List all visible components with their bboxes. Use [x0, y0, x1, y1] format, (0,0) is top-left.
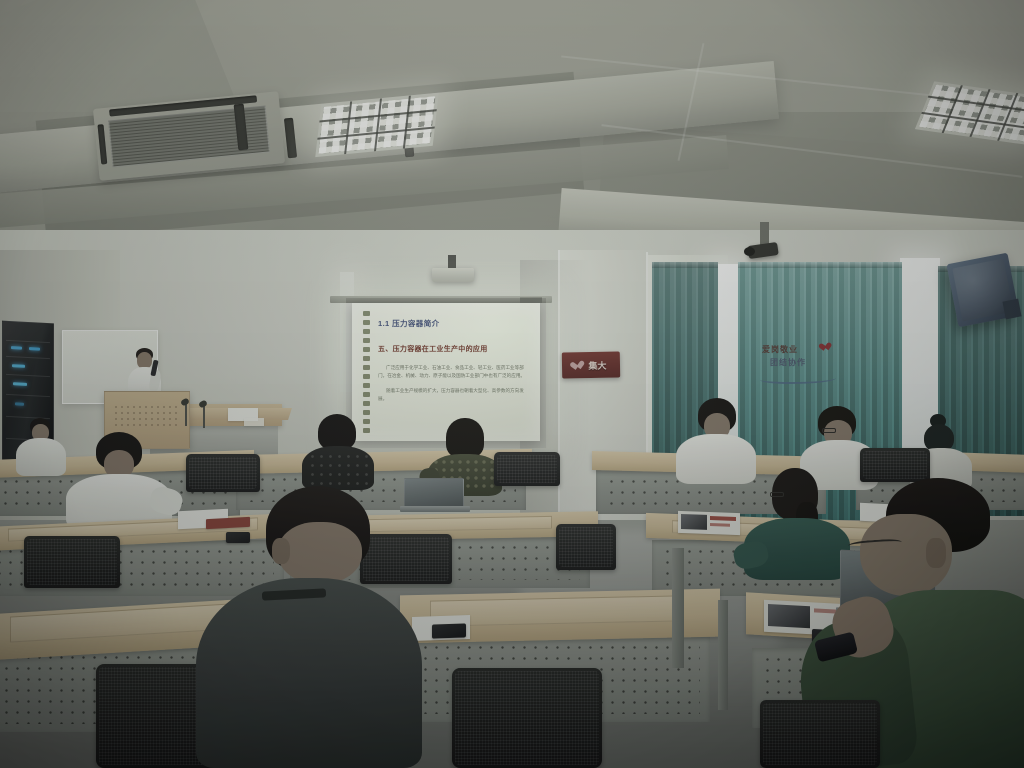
torso — [16, 438, 66, 476]
blouse-pattern — [308, 452, 368, 486]
ear — [272, 538, 290, 564]
slide-subheading: 五、压力容器在工业生产中的应用 — [378, 344, 532, 354]
audience-member — [66, 432, 174, 528]
desk-leg — [718, 600, 728, 710]
glasses-icon — [822, 428, 836, 433]
microphone-stand — [203, 406, 205, 428]
projector-icon — [432, 268, 474, 282]
wall-plaque-red: 集大 — [562, 351, 620, 378]
plaque-label: 集大 — [588, 358, 606, 371]
decal-line-2: 团结协作 — [770, 357, 834, 368]
chair — [24, 536, 120, 588]
microphone-stand — [185, 404, 187, 426]
speaker-bracket — [1002, 299, 1021, 320]
chair — [494, 452, 560, 486]
hair — [318, 414, 356, 450]
phone — [432, 623, 466, 638]
lectern-perforation — [113, 404, 181, 430]
chair — [760, 700, 880, 768]
camera-lens-icon — [744, 247, 755, 256]
audience-member-foreground — [196, 486, 426, 768]
wall-edge — [558, 250, 560, 550]
ac-vent-slot — [97, 124, 107, 164]
heart-icon — [822, 342, 832, 351]
chair — [452, 668, 602, 768]
slide-paragraph-2: 随着工业生产规模的扩大，压力容器也朝着大型化、高参数的方向发展。 — [378, 387, 532, 403]
heart-icon — [575, 360, 586, 370]
chair — [556, 524, 616, 570]
paper-sheet — [244, 418, 264, 426]
screen-rail — [330, 296, 552, 303]
decal-swoosh — [760, 374, 836, 384]
magazine — [678, 511, 740, 535]
projector-mount — [448, 255, 456, 269]
glasses-icon — [770, 492, 784, 497]
slide-heading: 1.1 压力容器简介 — [378, 318, 532, 329]
slide-paragraph-1: 广泛应用于化学工业、石油工业、食品工业、轻工业、医药工业等部门，在冶金、机械、动… — [378, 364, 532, 380]
desk-leg — [672, 548, 684, 668]
chair — [860, 448, 930, 482]
head — [278, 522, 362, 584]
audience-member — [16, 418, 68, 474]
ear — [926, 538, 946, 568]
torso — [196, 578, 422, 768]
hair — [446, 418, 484, 458]
wall-decal: 爱岗敬业 团结协作 — [762, 344, 834, 384]
audience-member — [302, 414, 374, 488]
classroom-photo: 1.1 压力容器简介 五、压力容器在工业生产中的应用 广泛应用于化学工业、石油工… — [0, 0, 1024, 768]
